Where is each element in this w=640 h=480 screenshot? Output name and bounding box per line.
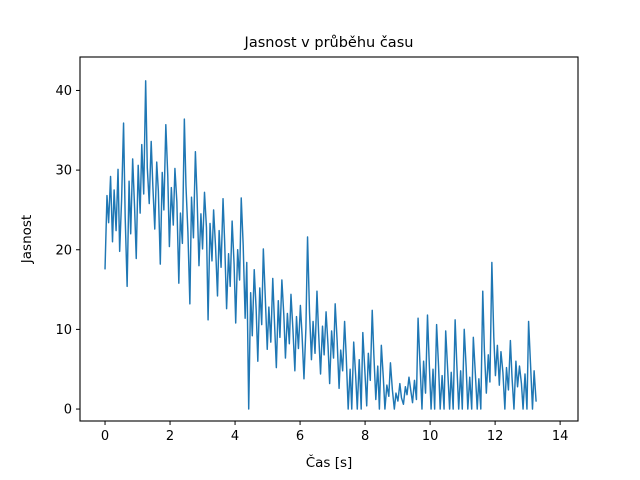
chart-title: Jasnost v průběhu času bbox=[244, 35, 414, 51]
x-tick-label: 0 bbox=[101, 429, 109, 444]
x-tick-label: 6 bbox=[296, 429, 304, 444]
x-axis-label: Čas [s] bbox=[306, 453, 353, 471]
x-tick-label: 10 bbox=[422, 429, 439, 444]
x-tick-label: 2 bbox=[166, 429, 174, 444]
y-tick-label: 20 bbox=[55, 243, 72, 258]
x-tick-label: 12 bbox=[487, 429, 504, 444]
x-tick-label: 8 bbox=[361, 429, 369, 444]
y-tick-label: 40 bbox=[55, 84, 72, 99]
x-tick-label: 14 bbox=[552, 429, 569, 444]
x-tick-label: 4 bbox=[231, 429, 239, 444]
chart-figure: Jasnost v průběhu času 02468101214 01020… bbox=[0, 0, 640, 480]
y-tick-label: 30 bbox=[55, 164, 72, 179]
y-tick-label: 0 bbox=[64, 403, 72, 418]
brightness-line-chart: Jasnost v průběhu času 02468101214 01020… bbox=[0, 0, 640, 480]
y-tick-label: 10 bbox=[55, 323, 72, 338]
y-axis-label: Jasnost bbox=[19, 215, 35, 264]
